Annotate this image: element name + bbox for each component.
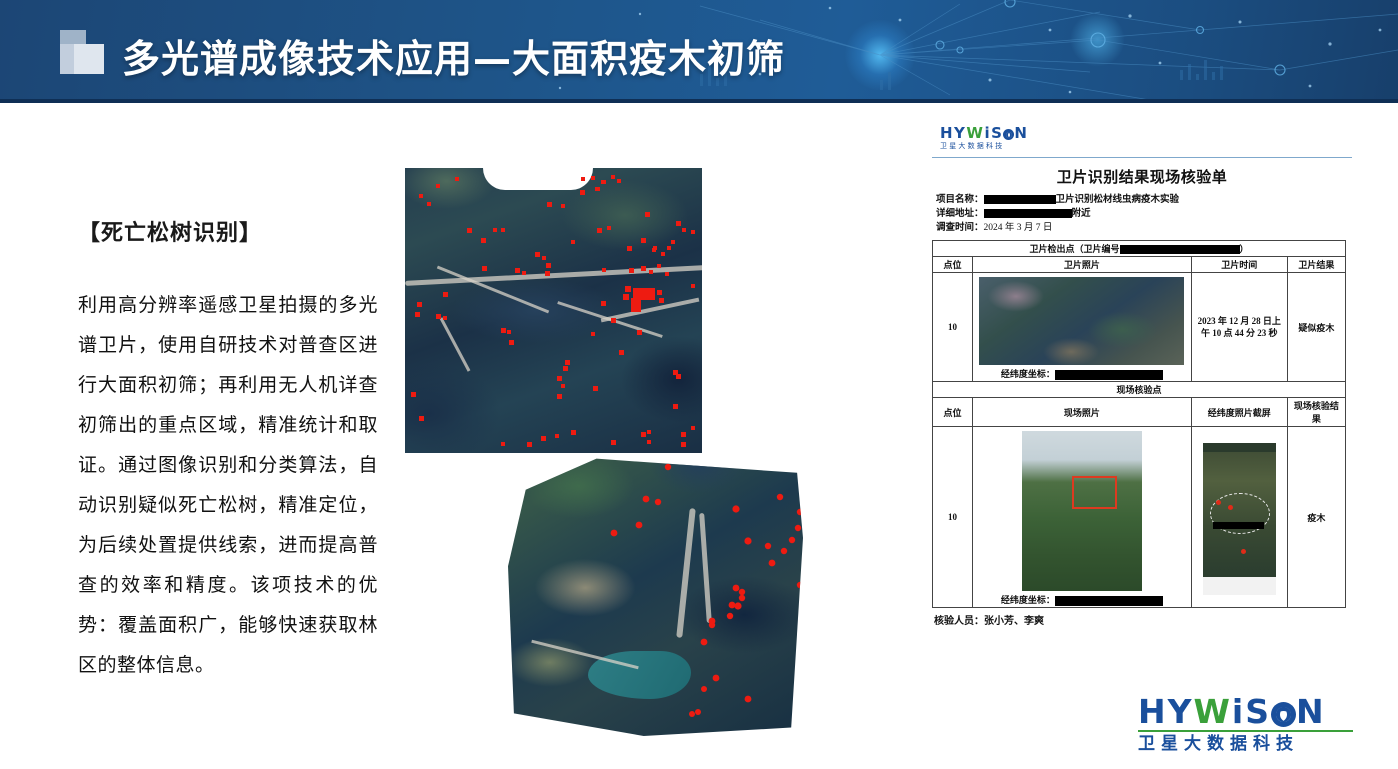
cell-satellite-time: 2023 年 12 月 28 日上午 10 点 44 分 23 秒 [1191, 273, 1287, 382]
logo-text-hy: HY [940, 124, 966, 142]
coordinate-label: 经纬度坐标： [1001, 369, 1055, 379]
col-header-point: 点位 [933, 257, 973, 273]
band-satellite-point: 卫片检出点（卫片编号） [933, 241, 1346, 257]
table-band-row: 卫片检出点（卫片编号） [933, 241, 1346, 257]
brand-wordmark: HYWiSN [1138, 695, 1353, 729]
brand-text-is: iS [1232, 692, 1271, 731]
meta-address-label: 详细地址： [936, 209, 984, 219]
band-suffix: ） [1240, 244, 1249, 254]
meta-project-value: 卫片识别松材线虫病疫木实验 [1056, 195, 1180, 205]
detection-bounding-box [1072, 476, 1117, 509]
col-header-field-result: 现场核验结果 [1287, 398, 1345, 427]
cell-satellite-result: 疑似疫木 [1287, 273, 1345, 382]
meta-project-label: 项目名称： [936, 195, 984, 205]
meta-address-value: 附近 [1072, 209, 1091, 219]
brand-subtitle: 卫星大数据科技 [1138, 734, 1353, 754]
table-header-row-field: 点位 现场照片 经纬度照片截屏 现场核验结果 [933, 398, 1346, 427]
cell-coordinate-screenshot [1191, 427, 1287, 608]
corporate-logo: HYWiSN 卫星大数据科技 [1138, 695, 1353, 754]
aperture-icon [1003, 129, 1014, 140]
phone-toolbar [1203, 577, 1276, 595]
redaction-bar [1055, 370, 1163, 380]
table-band-row-field: 现场核验点 [933, 382, 1346, 398]
col-header-field-photo: 现场照片 [973, 398, 1192, 427]
table-header-row: 点位 卫片照片 卫片时间 卫片结果 [933, 257, 1346, 273]
redaction-bar [1120, 245, 1240, 254]
satellite-detection-table: 卫片检出点（卫片编号） 点位 卫片照片 卫片时间 卫片结果 10 经纬度坐标： … [932, 240, 1346, 608]
coordinate-label-field: 经纬度坐标： [1001, 595, 1055, 605]
meta-date-value: 2024 年 3 月 7 日 [984, 223, 1053, 233]
meta-address: 详细地址：附近 [936, 207, 1352, 221]
satellite-image-primary [405, 168, 702, 453]
coordinate-line-field: 经纬度坐标： [975, 591, 1189, 606]
title-decoration-icon [60, 30, 106, 76]
redaction-bar [1213, 522, 1264, 529]
page-header-banner: 多光谱成像技术应用—大面积疫木初筛 [0, 0, 1398, 103]
verification-form-document: HYWiSN 卫星大数据科技 卫片识别结果现场核验单 项目名称：卫片识别松材线虫… [932, 126, 1352, 683]
logo-text-n: N [1014, 124, 1028, 142]
table-row-field: 10 经纬度坐标： [933, 427, 1346, 608]
cell-satellite-photo: 经纬度坐标： [973, 273, 1192, 382]
brand-text-n: N [1296, 692, 1326, 731]
detection-markers-secondary [508, 453, 803, 736]
brand-text-w: W [1194, 692, 1232, 731]
logo-text-w: W [966, 124, 984, 142]
table-row: 10 经纬度坐标： 2023 年 12 月 28 日上午 10 点 44 分 2… [933, 273, 1346, 382]
band-label: 卫片检出点（卫片编号 [1029, 244, 1119, 254]
phone-status-bar [1203, 443, 1276, 452]
section-heading: 【死亡松树识别】 [78, 215, 378, 247]
col-header-satellite-result: 卫片结果 [1287, 257, 1345, 273]
phone-screenshot-thumbnail [1203, 443, 1276, 595]
satellite-photo-thumbnail [979, 277, 1184, 365]
col-header-satellite-photo: 卫片照片 [973, 257, 1192, 273]
section-paragraph: 利用高分辨率遥感卫星拍摄的多光谱卫片，使用自研技术对普查区进行大面积初筛；再利用… [78, 285, 378, 685]
col-header-point-field: 点位 [933, 398, 973, 427]
left-text-column: 【死亡松树识别】 利用高分辨率遥感卫星拍摄的多光谱卫片，使用自研技术对普查区进行… [78, 215, 378, 685]
inspector-names: 核验人员：张小芳、李爽 [934, 612, 1352, 627]
redaction-bar [1055, 596, 1163, 606]
meta-survey-date: 调查时间：2024 年 3 月 7 日 [936, 221, 1352, 235]
cell-point-number: 10 [933, 273, 973, 382]
cell-field-result: 疫木 [1287, 427, 1345, 608]
redaction-bar [984, 209, 1072, 218]
redaction-bar [984, 195, 1056, 204]
banner-bottom-rule [0, 99, 1398, 103]
document-logo: HYWiSN 卫星大数据科技 [940, 126, 1352, 152]
page-title: 多光谱成像技术应用—大面积疫木初筛 [122, 28, 785, 83]
meta-date-label: 调查时间： [936, 223, 984, 233]
logo-text-is: iS [984, 124, 1003, 142]
document-header-rule [932, 157, 1352, 158]
cell-point-number-field: 10 [933, 427, 973, 608]
col-header-satellite-time: 卫片时间 [1191, 257, 1287, 273]
band-field-verification: 现场核验点 [933, 382, 1346, 398]
map-pin-icon [1241, 549, 1246, 554]
detection-markers-primary [405, 168, 702, 453]
coordinate-line: 经纬度坐标： [975, 365, 1189, 380]
col-header-coordinate-screenshot: 经纬度照片截屏 [1191, 398, 1287, 427]
cell-field-photo: 经纬度坐标： [973, 427, 1192, 608]
field-photo-thumbnail [1022, 431, 1142, 591]
map-pin-icon [1228, 505, 1233, 510]
aperture-icon-large [1271, 702, 1296, 727]
document-title: 卫片识别结果现场核验单 [932, 166, 1352, 187]
satellite-image-secondary [508, 453, 803, 736]
document-logo-subtitle: 卫星大数据科技 [940, 142, 1352, 151]
document-logo-wordmark: HYWiSN [940, 126, 1352, 141]
brand-text-hy: HY [1138, 692, 1194, 731]
meta-project-name: 项目名称：卫片识别松材线虫病疫木实验 [936, 193, 1352, 207]
